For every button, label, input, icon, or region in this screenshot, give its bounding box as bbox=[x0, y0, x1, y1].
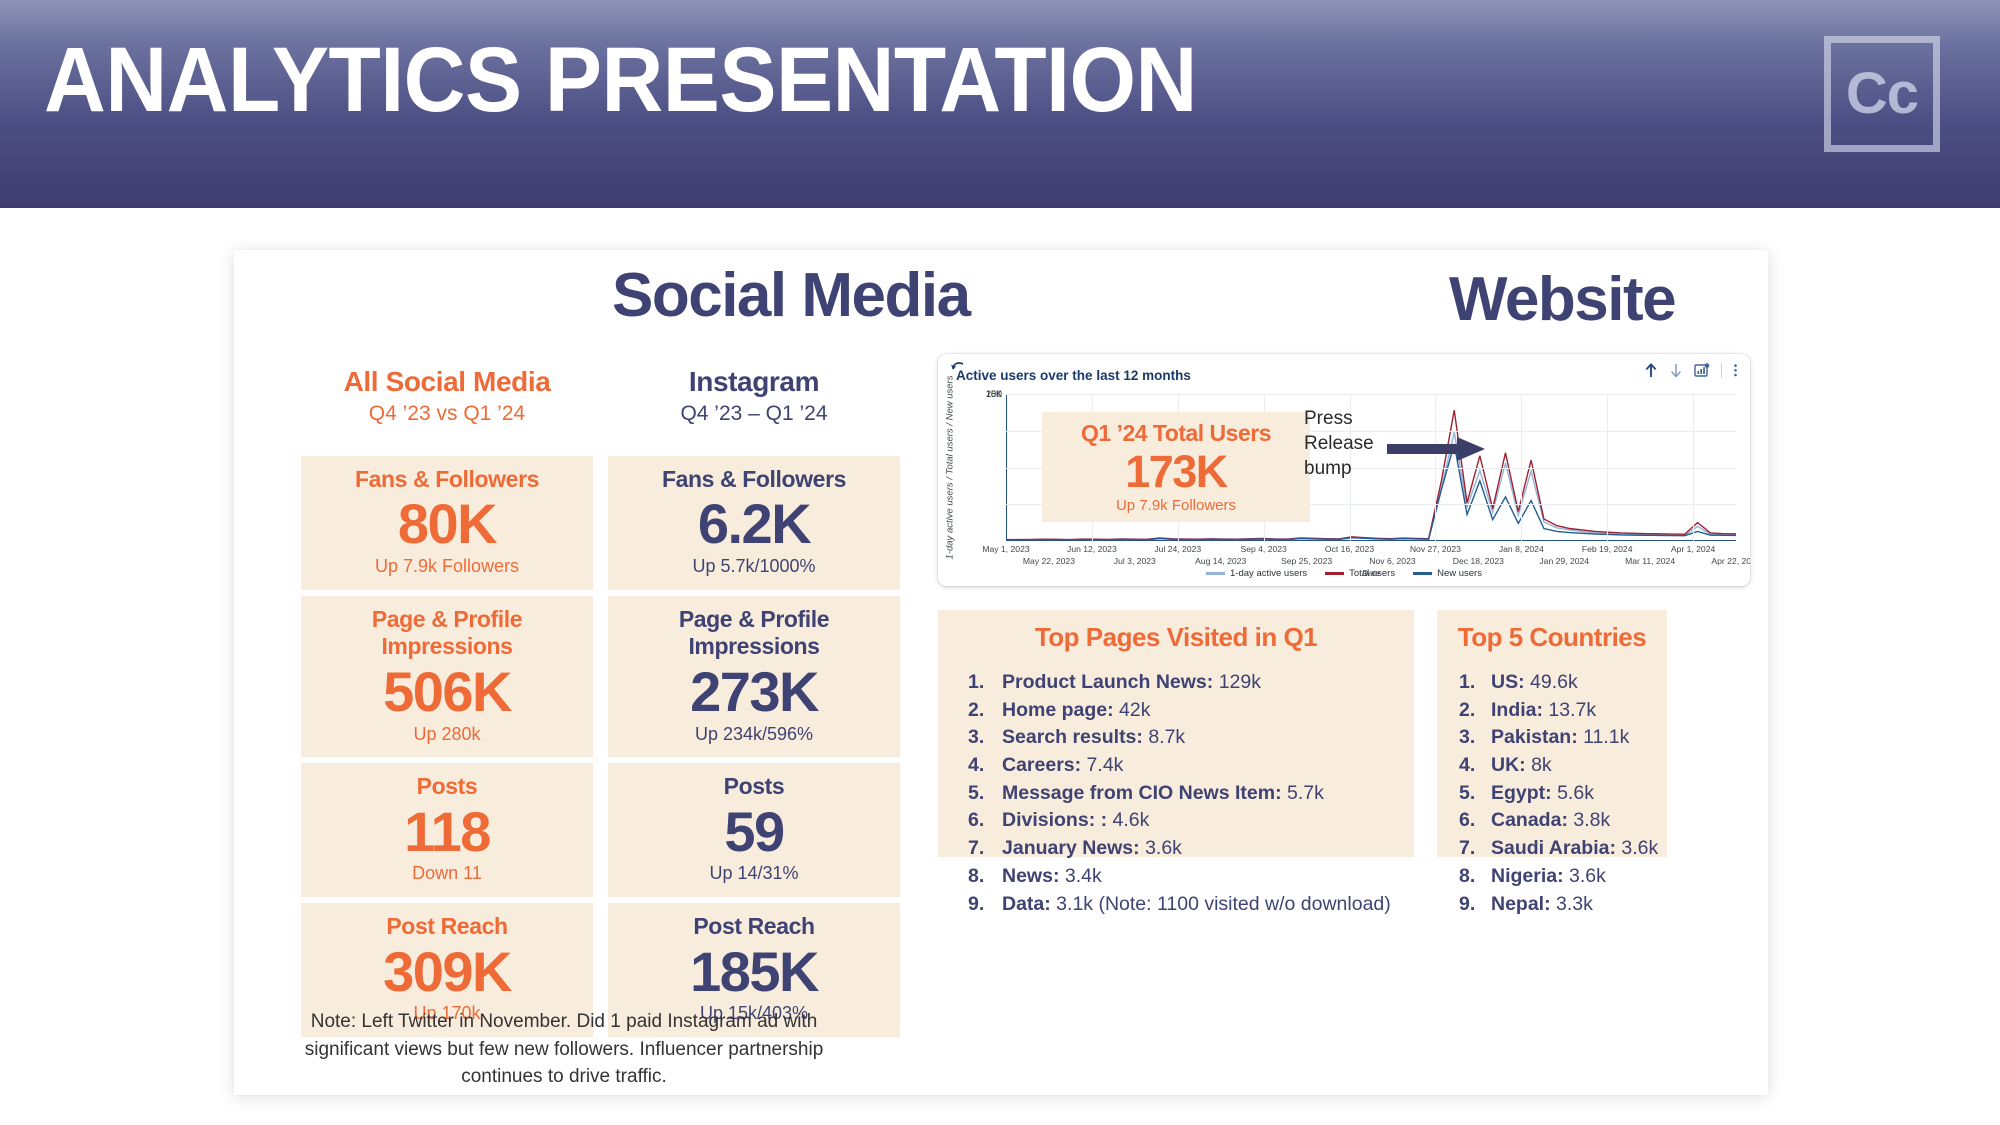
x-tick-label: Apr 22, 2024 bbox=[1711, 556, 1750, 566]
list-item-label: Pakistan: bbox=[1491, 726, 1578, 748]
stat-value: 59 bbox=[614, 801, 894, 864]
insights-chart-icon[interactable] bbox=[1694, 363, 1710, 378]
list-item-text: Search results: 8.7k bbox=[1002, 724, 1185, 752]
list-item: 9.Data: 3.1k (Note: 1100 visited w/o dow… bbox=[968, 891, 1414, 919]
list-item: 7.January News: 3.6k bbox=[968, 835, 1414, 863]
x-tick-label: Jun 12, 2023 bbox=[1067, 544, 1117, 554]
list-item-number: 3. bbox=[1459, 724, 1491, 752]
list-item-value: 8k bbox=[1526, 754, 1552, 776]
stat-value: 309K bbox=[307, 941, 587, 1004]
list-item-value: 8.7k bbox=[1143, 726, 1185, 748]
stat-card: Page & Profile Impressions 506K Up 280k bbox=[301, 596, 593, 758]
x-tick-label: Jan 29, 2024 bbox=[1539, 556, 1589, 566]
legend-entry: Total users bbox=[1325, 568, 1395, 579]
stat-delta: Up 234k/596% bbox=[614, 724, 894, 746]
list-item-value: 49.6k bbox=[1525, 671, 1578, 693]
list-item-value: 42k bbox=[1114, 699, 1151, 721]
chart-title: Active users over the last 12 months bbox=[956, 368, 1191, 383]
list-item-text: Pakistan: 11.1k bbox=[1491, 724, 1629, 752]
stat-card: Page & Profile Impressions 273K Up 234k/… bbox=[608, 596, 900, 758]
stat-label: Page & Profile Impressions bbox=[307, 606, 587, 661]
list-item: 3.Pakistan: 11.1k bbox=[1459, 724, 1667, 752]
column-daterange: Q4 ’23 – Q1 ’24 bbox=[608, 398, 900, 430]
list-item-value: 13.7k bbox=[1543, 699, 1596, 721]
list-item: 7.Saudi Arabia: 3.6k bbox=[1459, 835, 1667, 863]
list-item-label: UK: bbox=[1491, 754, 1526, 776]
column-instagram: Instagram Q4 ’23 – Q1 ’24 Fans & Followe… bbox=[608, 366, 900, 1043]
list-item-number: 5. bbox=[1459, 780, 1491, 808]
column-all-social-media: All Social Media Q4 ’23 vs Q1 ’24 Fans &… bbox=[301, 366, 593, 1043]
list-item-value: 3.4k bbox=[1059, 865, 1101, 887]
stat-value: 185K bbox=[614, 941, 894, 1004]
chart-y-axis-label: 1-day active users / Total users / New u… bbox=[943, 394, 957, 541]
list-item-label: Canada: bbox=[1491, 809, 1568, 831]
list-item-label: Careers: bbox=[1002, 754, 1081, 776]
footnote: Note: Left Twitter in November. Did 1 pa… bbox=[284, 1008, 844, 1091]
y-tick-label: 20K bbox=[986, 389, 1002, 399]
list-item: 4.UK: 8k bbox=[1459, 752, 1667, 780]
x-tick-label: Nov 27, 2023 bbox=[1410, 544, 1461, 554]
stat-label: Post Reach bbox=[307, 913, 587, 941]
list-item-number: 6. bbox=[1459, 807, 1491, 835]
legend-swatch bbox=[1325, 572, 1344, 574]
stat-delta: Up 5.7k/1000% bbox=[614, 556, 894, 578]
slide-body: Social Media Website All Social Media Q4… bbox=[234, 250, 1768, 1095]
annotation-arrow-icon bbox=[1387, 436, 1487, 462]
list-item-number: 4. bbox=[968, 752, 1002, 780]
title-banner: ANALYTICS PRESENTATION Cc bbox=[0, 0, 2000, 208]
list-item-label: Saudi Arabia: bbox=[1491, 837, 1616, 859]
list-item-text: Nigeria: 3.6k bbox=[1491, 863, 1606, 891]
list-item: 6.Divisions: : 4.6k bbox=[968, 807, 1414, 835]
list-item-value: 7.4k bbox=[1081, 754, 1123, 776]
list-item-value: 3.6k bbox=[1140, 837, 1182, 859]
page-title: ANALYTICS PRESENTATION bbox=[44, 34, 1197, 126]
x-tick-label: Oct 16, 2023 bbox=[1325, 544, 1374, 554]
list-item-text: Saudi Arabia: 3.6k bbox=[1491, 835, 1658, 863]
x-tick-label: Jul 3, 2023 bbox=[1114, 556, 1156, 566]
legend-label: New users bbox=[1437, 568, 1482, 579]
stat-delta: Down 11 bbox=[307, 863, 587, 885]
annotation-line-2: Release bbox=[1304, 431, 1374, 456]
list-item-label: Data: bbox=[1002, 893, 1051, 915]
column-header: All Social Media Q4 ’23 vs Q1 ’24 bbox=[301, 366, 593, 430]
list-item-text: Careers: 7.4k bbox=[1002, 752, 1123, 780]
list-item: 8.Nigeria: 3.6k bbox=[1459, 863, 1667, 891]
list-item-text: US: 49.6k bbox=[1491, 669, 1578, 697]
stat-card: Posts 118 Down 11 bbox=[301, 763, 593, 897]
x-tick-label: Nov 6, 2023 bbox=[1369, 556, 1415, 566]
x-tick-label: Mar 11, 2024 bbox=[1625, 556, 1675, 566]
list-item-value: 5.6k bbox=[1552, 782, 1594, 804]
list-item: 5.Egypt: 5.6k bbox=[1459, 780, 1667, 808]
stat-card: Fans & Followers 80K Up 7.9k Followers bbox=[301, 456, 593, 590]
stat-value: 6.2K bbox=[614, 493, 894, 556]
up-arrow-icon[interactable] bbox=[1644, 363, 1658, 378]
list-item-value: 3.1k (Note: 1100 visited w/o download) bbox=[1051, 893, 1391, 915]
list-item-number: 9. bbox=[968, 891, 1002, 919]
x-tick-label: Sep 25, 2023 bbox=[1281, 556, 1332, 566]
list-item-number: 5. bbox=[968, 780, 1002, 808]
list-item-label: Message from CIO News Item: bbox=[1002, 782, 1282, 804]
top-pages-list: 1.Product Launch News: 129k2.Home page: … bbox=[938, 669, 1414, 918]
list-item-text: January News: 3.6k bbox=[1002, 835, 1182, 863]
stat-card-list: Fans & Followers 6.2K Up 5.7k/1000% Page… bbox=[608, 456, 900, 1037]
list-item: 1.Product Launch News: 129k bbox=[968, 669, 1414, 697]
list-item: 5.Message from CIO News Item: 5.7k bbox=[968, 780, 1414, 808]
list-item-text: Nepal: 3.3k bbox=[1491, 891, 1593, 919]
list-item-number: 7. bbox=[968, 835, 1002, 863]
kpi-sub: Up 7.9k Followers bbox=[1116, 497, 1236, 514]
list-item-number: 2. bbox=[1459, 697, 1491, 725]
stat-value: 273K bbox=[614, 661, 894, 724]
x-tick-label: Aug 14, 2023 bbox=[1195, 556, 1246, 566]
list-item-value: 3.6k bbox=[1616, 837, 1658, 859]
list-item-number: 7. bbox=[1459, 835, 1491, 863]
legend-swatch bbox=[1206, 572, 1225, 574]
kpi-heading: Q1 ’24 Total Users bbox=[1081, 420, 1271, 447]
column-title: Instagram bbox=[608, 366, 900, 398]
list-item-label: Search results: bbox=[1002, 726, 1143, 748]
list-item-number: 3. bbox=[968, 724, 1002, 752]
chart-legend: 1-day active usersTotal usersNew users bbox=[938, 568, 1750, 579]
legend-label: Total users bbox=[1349, 568, 1395, 579]
stat-value: 506K bbox=[307, 661, 587, 724]
stat-delta: Up 14/31% bbox=[614, 863, 894, 885]
list-item-text: Divisions: : 4.6k bbox=[1002, 807, 1149, 835]
column-title: All Social Media bbox=[301, 366, 593, 398]
legend-entry: 1-day active users bbox=[1206, 568, 1307, 579]
social-media-heading: Social Media bbox=[612, 260, 970, 331]
slide-canvas: ANALYTICS PRESENTATION Cc Social Media W… bbox=[0, 0, 2000, 1125]
kpi-value: 173K bbox=[1125, 447, 1227, 497]
top-countries-list: 1.US: 49.6k2.India: 13.7k3.Pakistan: 11.… bbox=[1437, 669, 1667, 918]
list-item-value: 3.6k bbox=[1564, 865, 1606, 887]
legend-entry: New users bbox=[1413, 568, 1482, 579]
stat-value: 80K bbox=[307, 493, 587, 556]
list-item-label: Egypt: bbox=[1491, 782, 1552, 804]
legend-label: 1-day active users bbox=[1230, 568, 1307, 579]
list-item-number: 8. bbox=[968, 863, 1002, 891]
list-item-value: 11.1k bbox=[1578, 726, 1630, 748]
list-item-number: 4. bbox=[1459, 752, 1491, 780]
analytics-chart-panel[interactable]: Active users over the last 12 months bbox=[938, 354, 1750, 586]
list-item-text: News: 3.4k bbox=[1002, 863, 1102, 891]
gridline-horizontal bbox=[1006, 394, 1736, 395]
annotation-line-1: Press bbox=[1304, 406, 1374, 431]
chart-toolbar[interactable] bbox=[1644, 363, 1738, 378]
list-item: 8.News: 3.4k bbox=[968, 863, 1414, 891]
list-item-label: January News: bbox=[1002, 837, 1140, 859]
list-item-value: 3.8k bbox=[1568, 809, 1610, 831]
stat-label: Posts bbox=[307, 773, 587, 801]
stat-card: Posts 59 Up 14/31% bbox=[608, 763, 900, 897]
x-tick-label: Jul 24, 2023 bbox=[1154, 544, 1201, 554]
stat-label: Post Reach bbox=[614, 913, 894, 941]
legend-swatch bbox=[1413, 572, 1432, 574]
list-item-text: India: 13.7k bbox=[1491, 697, 1596, 725]
list-item-number: 1. bbox=[968, 669, 1002, 697]
list-item: 4.Careers: 7.4k bbox=[968, 752, 1414, 780]
stat-delta: Up 7.9k Followers bbox=[307, 556, 587, 578]
list-item-label: India: bbox=[1491, 699, 1543, 721]
list-item-label: News: bbox=[1002, 865, 1059, 887]
x-axis-line bbox=[1006, 540, 1736, 541]
cc-logo-text: Cc bbox=[1846, 65, 1918, 123]
top-pages-title: Top Pages Visited in Q1 bbox=[938, 610, 1414, 653]
x-tick-label: Apr 1, 2024 bbox=[1671, 544, 1715, 554]
column-daterange: Q4 ’23 vs Q1 ’24 bbox=[301, 398, 593, 430]
top-countries-title: Top 5 Countries bbox=[1437, 610, 1667, 653]
list-item-text: Message from CIO News Item: 5.7k bbox=[1002, 780, 1324, 808]
x-tick-label: Jan 8, 2024 bbox=[1499, 544, 1544, 554]
stat-label: Page & Profile Impressions bbox=[614, 606, 894, 661]
stat-label: Fans & Followers bbox=[614, 466, 894, 494]
list-item-label: Divisions: : bbox=[1002, 809, 1107, 831]
list-item: 9.Nepal: 3.3k bbox=[1459, 891, 1667, 919]
x-tick-label: Feb 19, 2024 bbox=[1582, 544, 1633, 554]
toolbar-divider bbox=[1721, 363, 1722, 378]
gridline-vertical bbox=[1521, 394, 1522, 541]
list-item-value: 3.3k bbox=[1551, 893, 1593, 915]
list-item-number: 1. bbox=[1459, 669, 1491, 697]
stat-card-list: Fans & Followers 80K Up 7.9k Followers P… bbox=[301, 456, 593, 1037]
list-item-label: Nepal: bbox=[1491, 893, 1551, 915]
stat-label: Posts bbox=[614, 773, 894, 801]
x-tick-label: Dec 18, 2023 bbox=[1453, 556, 1504, 566]
gridline-vertical bbox=[1607, 394, 1608, 541]
list-item-value: 5.7k bbox=[1282, 782, 1324, 804]
list-item-label: Nigeria: bbox=[1491, 865, 1564, 887]
top-pages-panel: Top Pages Visited in Q1 1.Product Launch… bbox=[938, 610, 1414, 857]
list-item-value: 4.6k bbox=[1107, 809, 1149, 831]
list-item-text: Product Launch News: 129k bbox=[1002, 669, 1261, 697]
list-item-text: Home page: 42k bbox=[1002, 697, 1150, 725]
kpi-overlay-total-users: Q1 ’24 Total Users 173K Up 7.9k Follower… bbox=[1042, 412, 1310, 522]
top-countries-panel: Top 5 Countries 1.US: 49.6k2.India: 13.7… bbox=[1437, 610, 1667, 857]
list-item: 1.US: 49.6k bbox=[1459, 669, 1667, 697]
list-item-value: 129k bbox=[1213, 671, 1261, 693]
cc-logo: Cc bbox=[1824, 36, 1940, 152]
x-tick-label: May 22, 2023 bbox=[1023, 556, 1075, 566]
stat-label: Fans & Followers bbox=[307, 466, 587, 494]
stat-card: Fans & Followers 6.2K Up 5.7k/1000% bbox=[608, 456, 900, 590]
gridline-vertical bbox=[1435, 394, 1436, 541]
stat-delta: Up 280k bbox=[307, 724, 587, 746]
website-heading: Website bbox=[1449, 264, 1675, 335]
annotation-line-3: bump bbox=[1304, 456, 1374, 481]
list-item-number: 6. bbox=[968, 807, 1002, 835]
list-item: 2.Home page: 42k bbox=[968, 697, 1414, 725]
list-item-number: 8. bbox=[1459, 863, 1491, 891]
list-item: 2.India: 13.7k bbox=[1459, 697, 1667, 725]
list-item-label: Home page: bbox=[1002, 699, 1114, 721]
list-item-text: Egypt: 5.6k bbox=[1491, 780, 1594, 808]
down-arrow-icon[interactable] bbox=[1669, 363, 1683, 378]
list-item-number: 9. bbox=[1459, 891, 1491, 919]
list-item: 6.Canada: 3.8k bbox=[1459, 807, 1667, 835]
list-item-text: Data: 3.1k (Note: 1100 visited w/o downl… bbox=[1002, 891, 1391, 919]
x-tick-label: May 1, 2023 bbox=[982, 544, 1029, 554]
stat-value: 118 bbox=[307, 801, 587, 864]
column-header: Instagram Q4 ’23 – Q1 ’24 bbox=[608, 366, 900, 430]
x-tick-label: Sep 4, 2023 bbox=[1240, 544, 1286, 554]
list-item-text: UK: 8k bbox=[1491, 752, 1552, 780]
more-vertical-icon[interactable] bbox=[1733, 363, 1738, 378]
list-item: 3.Search results: 8.7k bbox=[968, 724, 1414, 752]
list-item-label: Product Launch News: bbox=[1002, 671, 1213, 693]
gridline-vertical bbox=[1693, 394, 1694, 541]
list-item-label: US: bbox=[1491, 671, 1525, 693]
press-release-annotation: Press Release bump bbox=[1304, 406, 1374, 481]
list-item-number: 2. bbox=[968, 697, 1002, 725]
list-item-text: Canada: 3.8k bbox=[1491, 807, 1610, 835]
